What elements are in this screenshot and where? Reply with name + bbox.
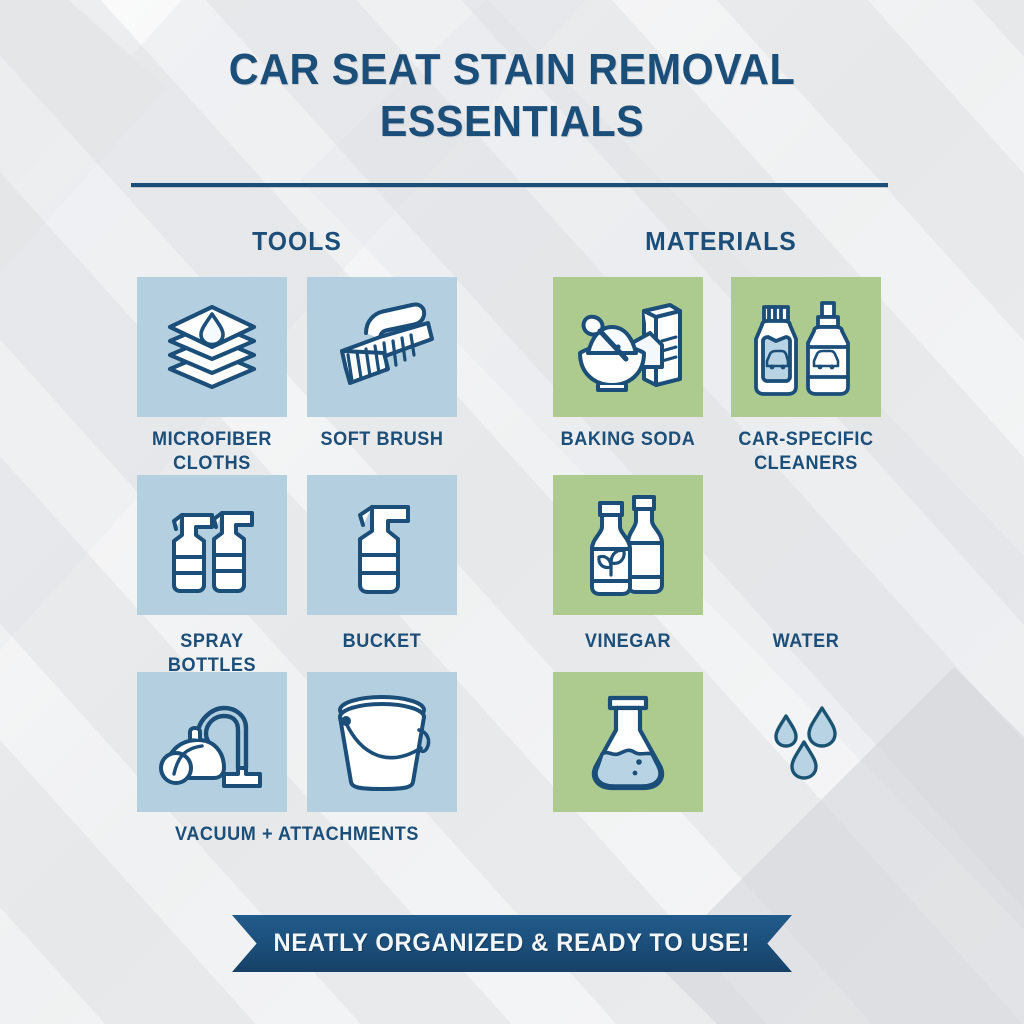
tile-spray-bottles[interactable] — [137, 475, 287, 615]
label-bucket: BUCKET — [311, 630, 454, 654]
tile-flask[interactable] — [553, 672, 703, 812]
footer-ribbon-text: NEATLY ORGANIZED & READY TO USE! — [274, 929, 751, 958]
bucket-icon — [327, 690, 437, 794]
label-vinegar: VINEGAR — [557, 630, 700, 654]
column-heading-tools: TOOLS — [145, 226, 449, 257]
label-soft-brush: SOFT BRUSH — [311, 428, 454, 452]
tile-soft-brush[interactable] — [307, 277, 457, 417]
tile-water-placeholder — [731, 475, 881, 615]
tile-vacuum[interactable] — [137, 672, 287, 812]
label-vacuum-attachments: VACUUM + ATTACHMENTS — [145, 823, 449, 847]
scrub-brush-icon — [328, 299, 436, 395]
car-cleaner-bottles-icon — [750, 295, 862, 399]
flask-icon — [582, 690, 674, 794]
vinegar-bottles-icon — [580, 491, 676, 599]
tile-bucket-vessel[interactable] — [307, 672, 457, 812]
tile-microfiber-cloths[interactable] — [137, 277, 287, 417]
baking-soda-bowl-icon — [570, 297, 686, 397]
spray-bottle-icon — [338, 493, 426, 597]
two-spray-bottles-icon — [160, 493, 264, 597]
title-line-1: CAR SEAT STAIN REMOVAL — [31, 44, 994, 96]
vacuum-cleaner-icon — [154, 690, 270, 794]
tile-bucket[interactable] — [307, 475, 457, 615]
label-baking-soda: BAKING SODA — [557, 428, 700, 452]
title-line-2: ESSENTIALS — [31, 96, 994, 148]
tile-car-specific-cleaners[interactable] — [731, 277, 881, 417]
water-droplets-icon — [764, 698, 848, 786]
tile-baking-soda[interactable] — [553, 277, 703, 417]
label-water: WATER — [735, 630, 878, 654]
label-car-specific-cleaners: CAR-SPECIFIC CLEANERS — [735, 428, 878, 476]
stacked-cloths-icon — [160, 299, 264, 395]
tile-water-droplets[interactable] — [731, 672, 881, 812]
label-spray-bottles: SPRAY BOTTLES — [141, 630, 284, 678]
page-title: CAR SEAT STAIN REMOVAL ESSENTIALS — [0, 44, 1024, 148]
infographic-poster: CAR SEAT STAIN REMOVAL ESSENTIALS TOOLS … — [0, 0, 1024, 1024]
tile-vinegar[interactable] — [553, 475, 703, 615]
column-heading-materials: MATERIALS — [561, 226, 880, 257]
label-microfiber-cloths: MICROFIBER CLOTHS — [141, 428, 284, 476]
title-divider — [131, 183, 888, 187]
footer-ribbon: NEATLY ORGANIZED & READY TO USE! — [232, 915, 792, 972]
